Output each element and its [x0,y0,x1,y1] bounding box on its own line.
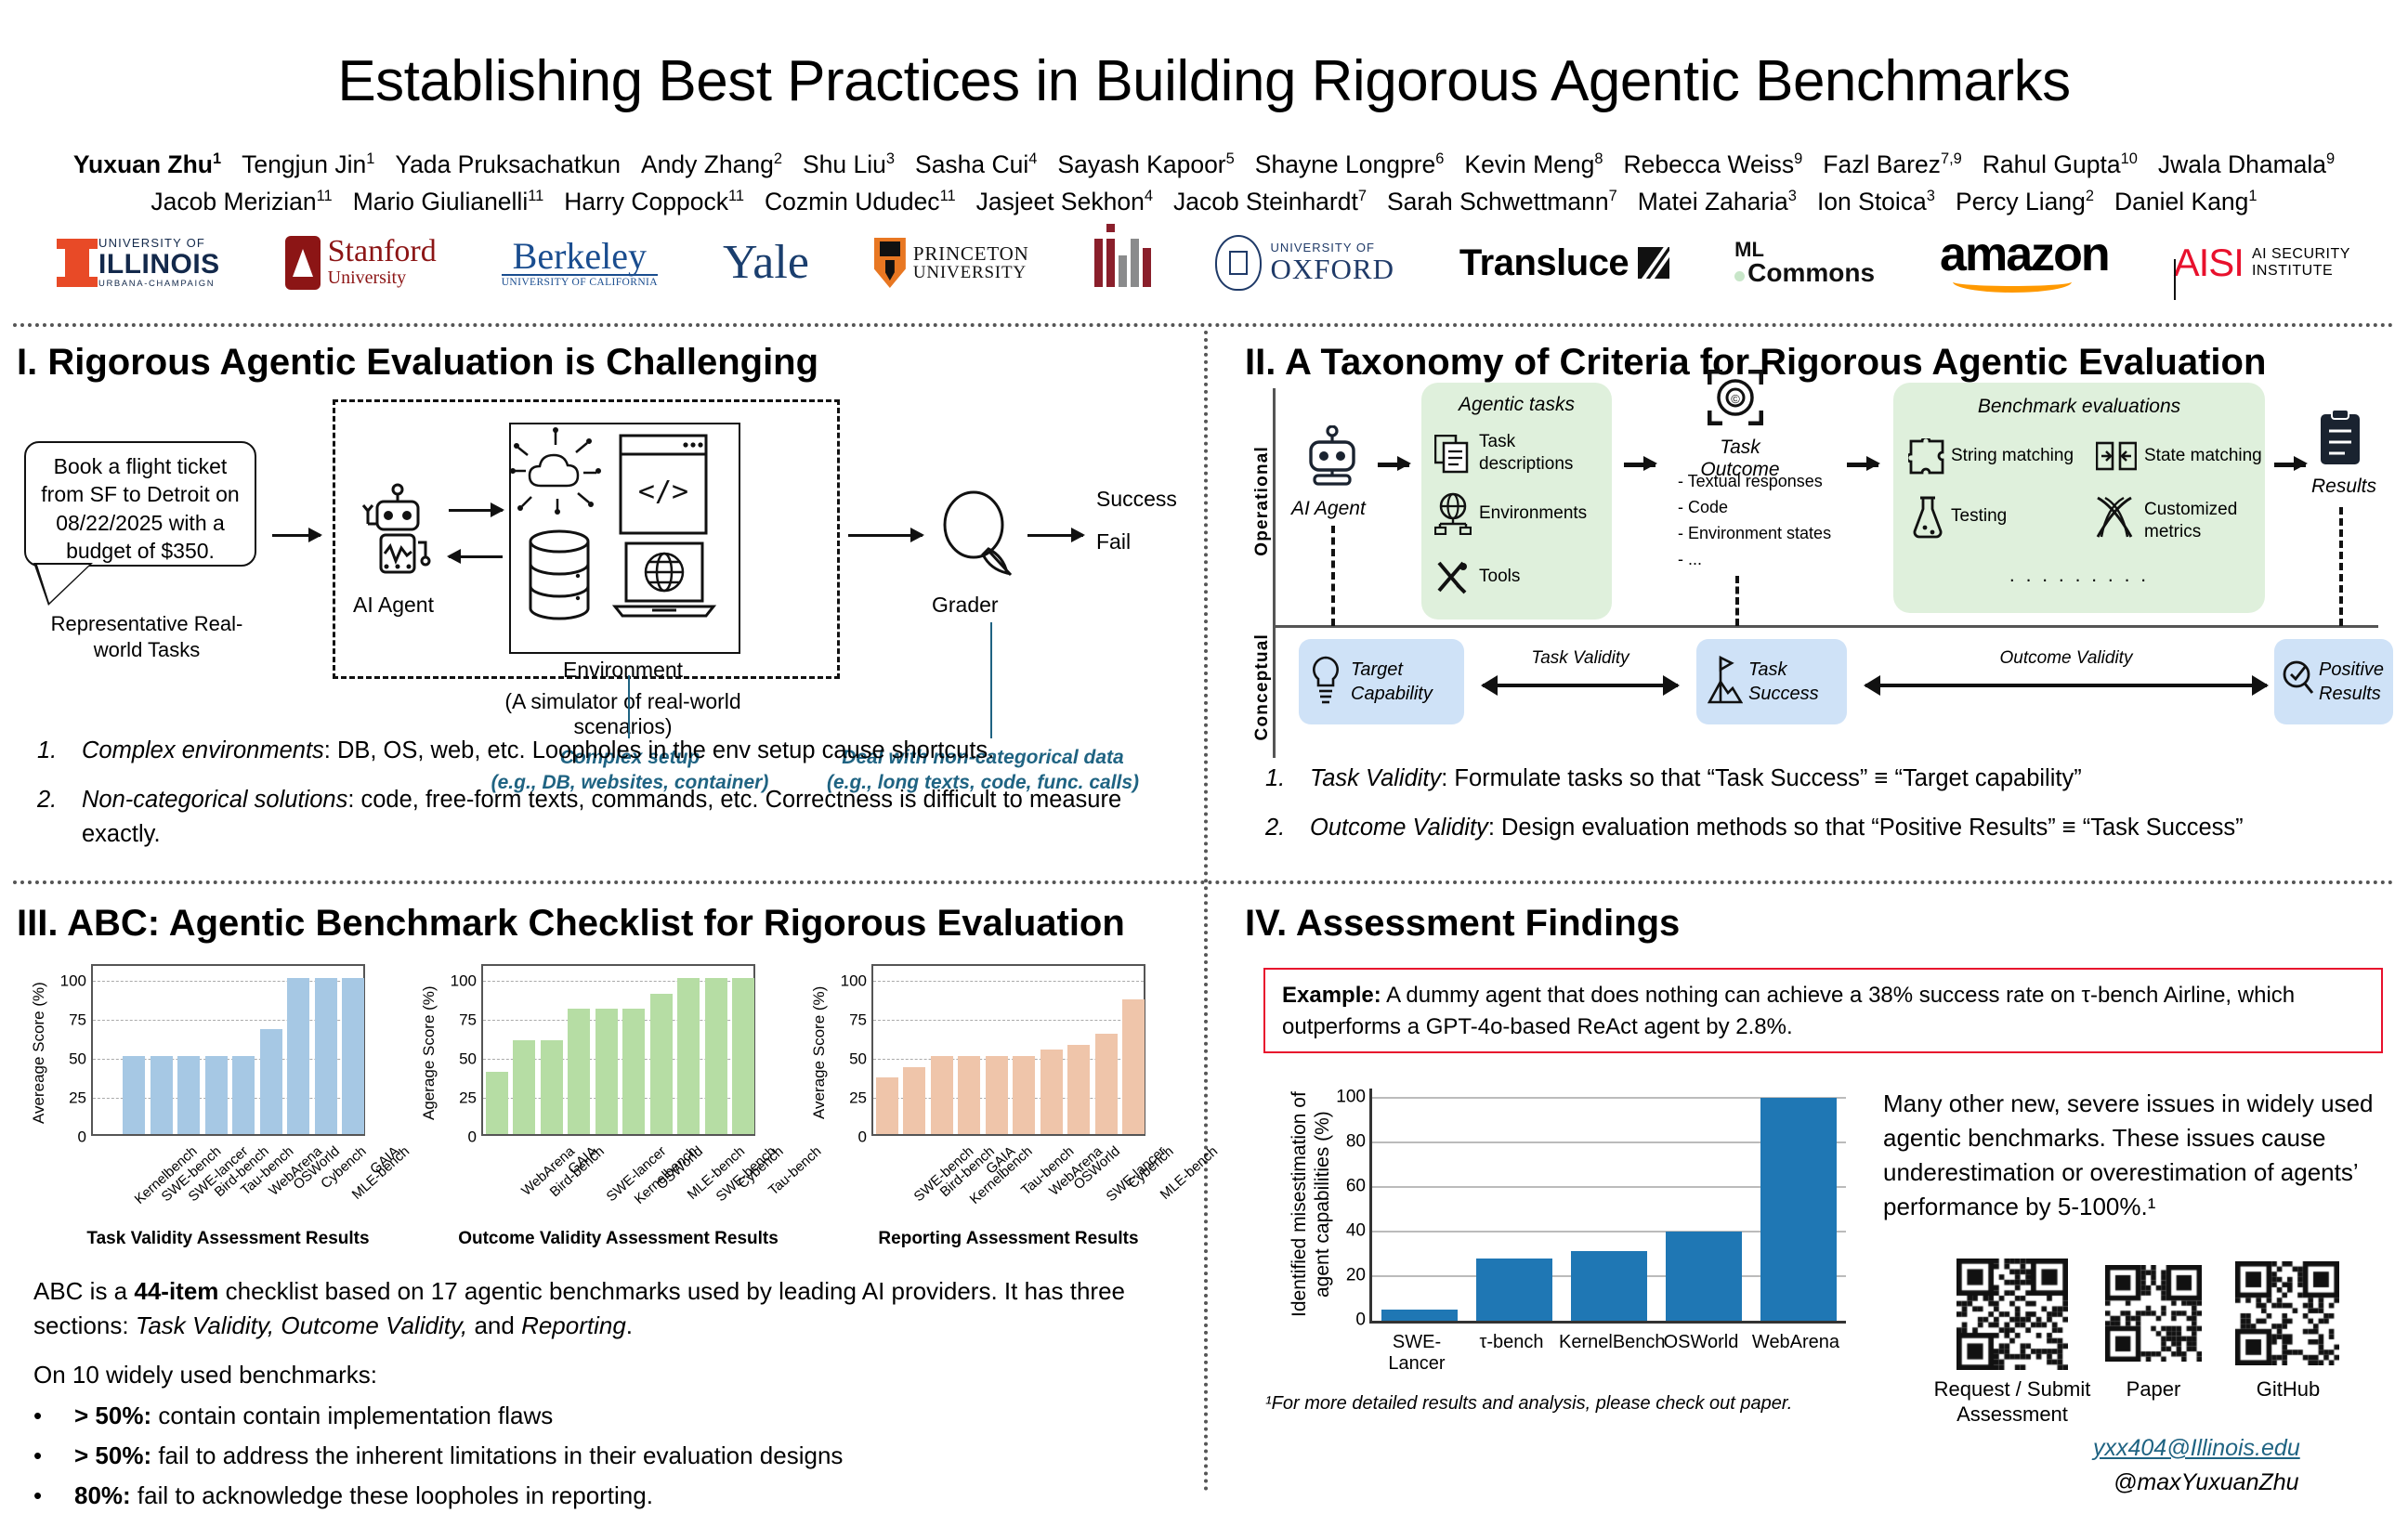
oxford-line2: OXFORD [1270,254,1394,285]
divider-top [13,323,2395,327]
agentic-tasks-title: Agentic tasks [1421,394,1612,416]
princeton-logo: PRINCETON UNIVERSITY [874,230,1029,295]
positive-results-box: Positive Results [2274,639,2393,724]
author-name: Harry Coppock11 [564,189,744,214]
y-tick-label: 25 [69,1089,86,1108]
aisi-line2: AI SECURITY [2252,246,2350,263]
author-name: Andy Zhang2 [641,151,782,176]
y-tick-label: 50 [459,1050,477,1069]
outcome-validity-arrow [1865,684,2267,687]
y-tick-label: 20 [1346,1265,1366,1285]
environments-network-icon [1434,492,1472,535]
chart-outcome-validity: 0255075100Agerage Score (%)WebArenaBird-… [414,959,786,1256]
arrow-env-to-agent [449,555,503,558]
string-matching-puzzle-icon [1908,438,1945,476]
y-axis-title: Agerage Score (%) [420,970,438,1136]
bar [315,978,337,1134]
arrow-agent-to-env [449,509,503,512]
arrow-tasks-to-outcome [1624,463,1655,467]
agent-dashed-connector [1331,526,1335,626]
target-capability-box: Target Capability [1299,639,1464,724]
arrow-task-to-agent [272,534,321,537]
success-label: Success [1096,487,1177,512]
arrow-env-to-grader [848,534,923,537]
author-name: Jwala Dhamala9 [2158,151,2335,176]
author-name: Jacob Merizian11 [150,189,332,214]
author-name: Rahul Gupta10 [1983,151,2138,176]
author-name: Jacob Steinhardt7 [1173,189,1367,214]
bar [595,1009,618,1134]
lane-axis-operational [1273,388,1276,625]
svg-text:©: © [1731,392,1740,406]
amazon-wordmark: amazon [1940,233,2109,277]
section-3-heading: III. ABC: Agentic Benchmark Checklist fo… [17,903,1125,945]
mlcommons-line1: ML [1734,240,1875,260]
benchmark-eval-item-3: Customized metrics [2144,499,2256,543]
point-text: Outcome Validity: Design evaluation meth… [1310,811,2244,845]
author-name: Sasha Cui4 [915,151,1037,176]
bar [1666,1232,1742,1321]
point-text: Complex environments: DB, OS, web, etc. … [82,734,994,768]
mit-logo [1094,239,1151,287]
bar [1476,1259,1552,1321]
y-tick-label: 0 [1355,1311,1366,1331]
point-number: 1. [37,734,82,768]
chart-reporting: 0255075100Average Score (%)SWE-benchBird… [805,959,1176,1256]
list-item: 2. Outcome Validity: Design evaluation m… [1265,811,2389,845]
bar [1760,1098,1837,1321]
task-bubble-caption: Representative Real-world Tasks [40,611,254,663]
y-tick-label: 0 [468,1128,477,1147]
y-tick-label: 75 [69,1011,86,1029]
section-3-paragraph-1: ABC is a 44-item checklist based on 17 a… [33,1274,1176,1343]
agentic-tasks-item-2: Tools [1479,567,1600,587]
y-tick-label: 100 [841,972,867,990]
verified-check-icon [2282,659,2315,700]
y-tick-label: 25 [849,1089,867,1108]
y-tick-label: 50 [849,1050,867,1069]
y-tick-label: 60 [1346,1176,1366,1196]
list-item: 1. Task Validity: Formulate tasks so tha… [1265,762,2389,796]
gridline [873,981,1144,982]
poster-root: Establishing Best Practices in Building … [0,0,2408,1505]
y-tick-label: 25 [459,1089,477,1108]
amazon-logo: amazon [1940,230,2109,295]
bar [1122,999,1145,1134]
arrow-eval-to-results [2274,463,2306,467]
point-text: Task Validity: Formulate tasks so that “… [1310,762,2082,796]
contact-handle: @maxYuxuanZhu [2114,1469,2299,1496]
state-matching-icon [2096,438,2137,474]
list-item: 1. Complex environments: DB, OS, web, et… [37,734,1180,768]
point-number: 2. [1265,811,1310,845]
berkeley-logo: Berkeley UNIVERSITY OF CALIFORNIA [502,230,658,295]
oxford-logo: UNIVERSITY OF OXFORD [1215,230,1394,295]
environment-label: Environment [509,658,737,683]
agentic-tasks-item-1: Environments [1479,503,1609,524]
princeton-line1: PRINCETON [913,243,1029,264]
author-name: Ion Stoica3 [1817,189,1935,214]
author-name: Cozmin Ududec11 [765,189,956,214]
positive-results-label: Positive Results [2319,658,2391,706]
bar [205,1056,228,1134]
x-tick-label: OSWorld [1654,1332,1748,1353]
princeton-shield-icon [874,238,906,288]
point-text: Non-categorical solutions: code, free-fo… [82,783,1180,852]
bar [568,1009,590,1134]
chart-identified-misestimation: 020406080100Identified misestimation of … [1275,1077,1860,1384]
bar [150,1056,173,1134]
aisi-line3: INSTITUTE [2252,263,2350,280]
list-item: •80%: fail to acknowledge these loophole… [33,1479,1185,1513]
author-name: Matei Zaharia3 [1638,189,1797,214]
benchmark-eval-ellipsis: . . . . . . . . . [1893,565,2265,587]
bar [958,1056,980,1134]
task-validity-label: Task Validity [1483,648,1678,669]
qr-label-paper: Paper [2088,1377,2218,1402]
grader-magnifier-icon [936,488,1020,585]
qr-paper[interactable] [2105,1265,2202,1362]
section-4-heading: IV. Assessment Findings [1245,903,1680,945]
author-name: Kevin Meng8 [1464,151,1603,176]
callout-left-line [628,675,630,738]
bar [903,1067,925,1134]
bar [677,978,700,1134]
task-outcome-item-1: - Code [1678,495,1831,521]
chart-title: Reporting Assessment Results [834,1229,1183,1249]
illinois-line3: URBANA-CHAMPAIGN [98,280,220,289]
section-4-paragraph: Many other new, severe issues in widely … [1883,1087,2389,1224]
author-name: Jasjeet Sekhon4 [976,189,1153,214]
task-success-box: Task Success [1696,639,1847,724]
task-outcome-target-icon: © [1708,370,1763,425]
svg-text:</>: </> [638,476,688,508]
transluce-mark-icon [1638,247,1669,279]
example-label: Example: [1282,983,1381,1008]
bar [732,978,754,1134]
section-2-points: 1. Task Validity: Formulate tasks so tha… [1265,762,2389,860]
arrow-agent-to-tasks [1378,463,1409,467]
section-1-points: 1. Complex environments: DB, OS, web, et… [37,734,1180,867]
bar [876,1077,898,1134]
bar [123,1056,145,1134]
x-tick-label: KernelBench [1559,1332,1654,1353]
bar [650,994,673,1134]
tools-icon [1435,559,1471,594]
results-label: Results [2302,476,2386,498]
arrow-outcome-to-eval [1847,463,1878,467]
benchmark-evaluations-title: Benchmark evaluations [1893,396,2265,418]
outcome-dashed-connector [1735,576,1739,626]
bar [1095,1034,1118,1134]
qr-label-request: Request / Submit Assessment [1919,1377,2105,1428]
lane-axis-divider [1273,625,2378,628]
qr-github[interactable] [2235,1261,2339,1365]
task-bubble-tail-icon [33,563,93,606]
bar [705,978,727,1134]
bar [342,978,364,1134]
agentic-tasks-box: Agentic tasks Task descriptions En [1421,383,1612,620]
author-name: Yada Pruksachatkun [395,152,621,177]
bar [1013,1056,1035,1134]
contact-email-link[interactable]: yxx404@Illinois.edu [2093,1435,2300,1462]
arrow-grader-to-result [1027,534,1083,537]
y-tick-label: 40 [1346,1220,1366,1241]
x-tick-label: τ-bench [1464,1332,1559,1353]
yale-logo: Yale [723,230,809,295]
princeton-line2: UNIVERSITY [913,264,1029,282]
bar [177,1056,200,1134]
point-number: 1. [1265,762,1310,796]
aisi-logo: AISI AI SECURITY INSTITUTE [2174,230,2350,295]
customized-metrics-icon [2094,496,2135,539]
page-title: Establishing Best Practices in Building … [0,48,2408,114]
author-name: Percy Liang2 [1956,189,2094,214]
y-axis-title: Avereage Score (%) [30,970,48,1136]
environment-box: </> [509,423,740,654]
bar [986,1056,1008,1134]
bar [1381,1310,1458,1321]
y-tick-label: 100 [60,972,86,990]
task-outcome-items: - Textual responses - Code - Environment… [1678,469,1831,573]
section-3-paragraph-2: On 10 widely used benchmarks: [33,1358,1176,1392]
target-capability-label: Target Capability [1351,658,1455,706]
task-outcome-item-2: - Environment states [1678,521,1831,547]
author-name: Yuxuan Zhu1 [73,151,221,176]
benchmark-eval-item-1: State matching [2144,446,2262,466]
author-name: Shu Liu3 [803,151,895,176]
testing-flask-icon [1912,496,1943,539]
plot-area: 0255075100 [871,964,1145,1136]
ai-agent-label: AI Agent [1291,498,1366,520]
mlcommons-dot-icon [1734,271,1745,281]
results-clipboard-icon [2319,409,2362,466]
task-outcome-item-3: - ... [1678,547,1831,573]
documents-icon [1434,435,1470,474]
bar [931,1056,953,1134]
section-4-footnote: ¹For more detailed results and analysis,… [1265,1393,1878,1415]
author-name: Fazl Barez7,9 [1823,151,1962,176]
stanford-tree-icon [285,236,321,290]
gridline [873,1020,1144,1021]
ai-agent-robot-icon [1303,425,1361,490]
bar [486,1072,508,1134]
lane-label-operational: Operational [1252,446,1273,556]
agentic-tasks-item-0: Task descriptions [1479,431,1604,476]
fail-label: Fail [1096,529,1131,554]
plot-area: 020406080100 [1369,1089,1846,1324]
mountain-flag-icon [1708,654,1743,708]
plot-area: 0255075100 [91,964,365,1136]
aisi-wordmark: AISI [2174,241,2244,285]
illinois-line2: ILLINOIS [98,250,220,280]
grader-label: Grader [932,593,999,618]
bar [1040,1050,1063,1134]
author-name: Shayne Longpre6 [1255,151,1445,176]
chart-title: Outcome Validity Assessment Results [444,1229,792,1249]
author-name: Mario Giulianelli11 [353,189,544,214]
bar [1067,1045,1090,1134]
task-outcome-item-0: - Textual responses [1678,469,1831,495]
example-text: A dummy agent that does nothing can achi… [1282,983,2295,1039]
author-name: Sayash Kapoor5 [1057,151,1234,176]
outcome-validity-label: Outcome Validity [1865,648,2267,669]
task-success-label: Task Success [1748,658,1841,706]
x-tick-label: SWE-Lancer [1369,1332,1464,1375]
author-name: Sarah Schwettmann7 [1387,189,1617,214]
bar [513,1040,535,1134]
ai-agent-label: AI Agent [353,593,434,618]
y-tick-label: 0 [78,1128,86,1147]
benchmark-eval-item-2: Testing [1951,506,2007,527]
oxford-crest-icon [1215,235,1262,291]
lane-label-conceptual: Conceptual [1252,633,1273,740]
example-callout-box: Example: A dummy agent that does nothing… [1263,968,2383,1053]
bar [1571,1251,1647,1321]
stanford-line1: Stanford [328,237,437,267]
university-of-illinois-logo: UNIVERSITY OF ILLINOIS URBANA-CHAMPAIGN [65,230,220,295]
author-name: Tengjun Jin1 [242,151,374,176]
mlcommons-line2: Commons [1734,260,1875,286]
plot-area: 0255075100 [481,964,755,1136]
author-name: Daniel Kang1 [2114,189,2257,214]
x-tick-label: WebArena [1748,1332,1843,1353]
y-tick-label: 50 [69,1050,86,1069]
environment-sublabel: (A simulator of real-world scenarios) [453,689,792,739]
list-item: •> 50%: contain contain implementation f… [33,1399,1185,1433]
y-tick-label: 100 [451,972,477,990]
callout-right-line [990,622,992,738]
y-tick-label: 0 [858,1128,867,1147]
bar [287,978,309,1134]
y-tick-label: 80 [1346,1131,1366,1152]
task-bubble: Book a flight ticket from SF to Detroit … [24,441,256,567]
bar [622,1009,645,1134]
bar [232,1056,255,1134]
y-tick-label: 75 [849,1011,867,1029]
qr-label-github: GitHub [2228,1377,2349,1402]
results-dashed-connector [2339,507,2343,626]
bar [541,1040,563,1134]
section-3-bullets: •> 50%: contain contain implementation f… [33,1393,1185,1513]
divider-vertical [1204,331,1208,1492]
list-item: 2. Non-categorical solutions: code, free… [37,783,1180,852]
point-number: 2. [37,783,82,852]
illinois-line1: UNIVERSITY OF [98,237,220,250]
y-axis-title: Identified misestimation of agent capabi… [1288,1089,1343,1321]
benchmark-eval-item-0: String matching [1951,446,2074,466]
list-item: •> 50%: fail to address the inherent lim… [33,1439,1185,1473]
environment-icons: </> [511,424,735,648]
bar [260,1029,282,1134]
y-axis-title: Average Score (%) [810,970,829,1136]
y-tick-label: 75 [459,1011,477,1029]
chart-task-validity: 0255075100Avereage Score (%)KernelbenchS… [24,959,396,1256]
affiliation-logos: UNIVERSITY OF ILLINOIS URBANA-CHAMPAIGN … [65,226,2350,300]
qr-request-submit-assessment[interactable] [1956,1259,2068,1370]
lightbulb-icon [1310,656,1341,704]
mlcommons-logo: ML Commons [1734,230,1875,295]
transluce-wordmark: Transluce [1459,242,1629,284]
chart-title: Task Validity Assessment Results [54,1229,402,1249]
stanford-line2: University [328,267,437,289]
ai-agent-robot-icon [360,483,435,585]
lane-axis-conceptual [1273,628,1276,758]
stanford-logo: Stanford University [285,230,437,295]
benchmark-evaluations-box: Benchmark evaluations String matching St… [1893,383,2265,613]
berkeley-line1: Berkeley [502,239,658,274]
author-name: Rebecca Weiss9 [1624,151,1803,176]
task-validity-arrow [1483,684,1678,687]
transluce-logo: Transluce [1459,230,1669,295]
